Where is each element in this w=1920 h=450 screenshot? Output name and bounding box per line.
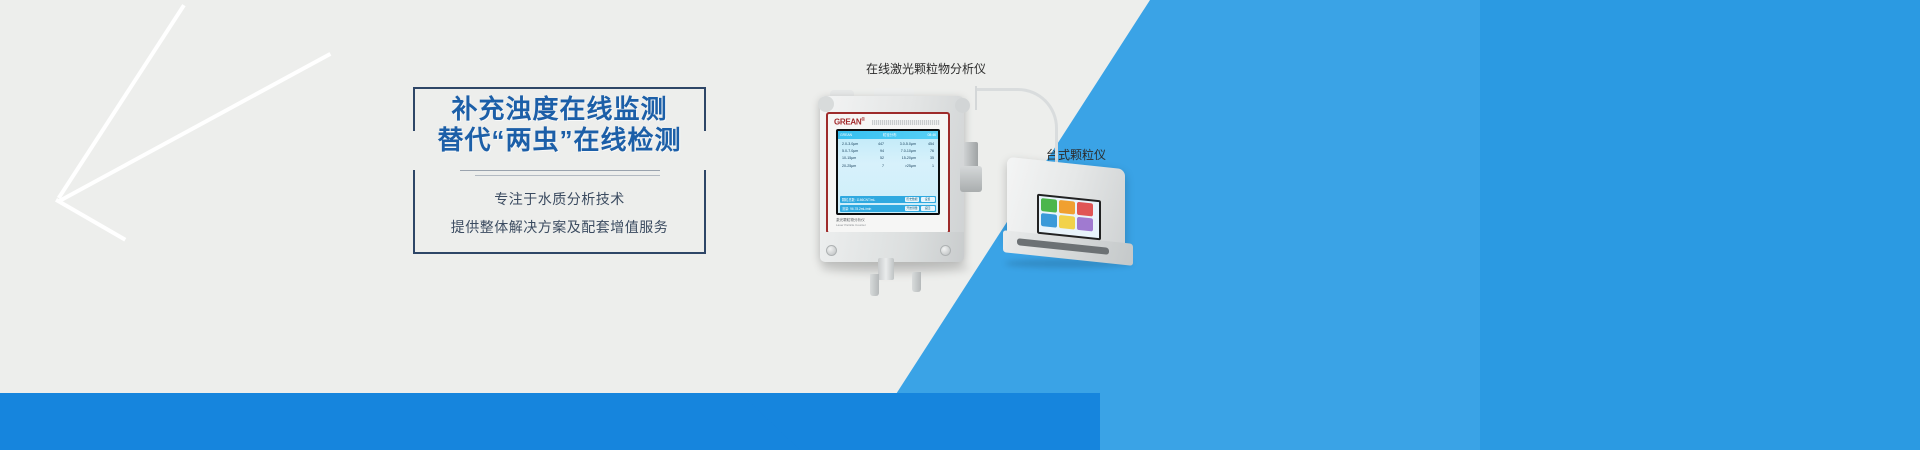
cell-range-2: 3.0-5.0μm: [884, 141, 916, 148]
bench-analyzer-image: [1003, 163, 1138, 275]
cell-value-2: 35: [916, 155, 934, 162]
analyzer-screw-right: [940, 245, 951, 256]
hero-banner: 补充浊度在线监测 替代“两虫”在线检测 专注于水质分析技术 提供整体解决方案及配…: [0, 0, 1920, 450]
table-row: 20-25μm 7 >25μm 1: [840, 163, 936, 170]
table-row: 10-15μm 52 15-20μm 35: [840, 155, 936, 162]
brand-text: GREAN: [834, 118, 861, 127]
screen-data-table: 2.0-3.0μm 447 3.0-5.0μm 454 5.0-7.0μm 94…: [838, 139, 938, 195]
status-total-count: 颗粒总数: 1166CNT/mL: [840, 197, 905, 202]
screen-brand: GREAN: [840, 131, 852, 139]
cell-range-2: 15-20μm: [884, 155, 916, 162]
bench-tile-blue[interactable]: [1041, 213, 1057, 228]
analyzer-knob-left: [818, 96, 834, 112]
brand-registered-icon: ®: [861, 117, 864, 123]
screen-clock: 08:46: [928, 131, 937, 139]
screen-titlebar: GREAN 粒径分布 08:46: [838, 131, 938, 139]
cell-value-2: 454: [916, 141, 934, 148]
headline-line-2: 替代“两虫”在线检测: [413, 125, 706, 156]
cell-range-1: 10-15μm: [840, 155, 868, 162]
cell-range-1: 2.0-3.0μm: [840, 141, 868, 148]
status-flow-rate: 流量: 96.78.2mL/min: [840, 206, 905, 211]
divider-upper: [460, 170, 660, 171]
screen-status-row-2: 流量: 96.78.2mL/min 开始测量 返回: [840, 205, 936, 212]
analyzer-bracket-left: [870, 274, 879, 296]
headline-line-1: 补充浊度在线监测: [413, 94, 706, 125]
table-row: 5.0-7.0μm 94 7.0-10μm 76: [840, 148, 936, 155]
bench-tile-red[interactable]: [1077, 202, 1093, 217]
bench-screen: [1039, 196, 1099, 238]
cell-range-2: 7.0-10μm: [884, 148, 916, 155]
analyzer-cable-gland: [878, 258, 894, 280]
cell-range-2: >25μm: [884, 163, 916, 170]
screen-button-back[interactable]: 返回: [921, 206, 935, 211]
cell-range-1: 20-25μm: [840, 163, 868, 170]
screen-title: 粒径分布: [883, 131, 897, 139]
subtitle-line-2: 提供整体解决方案及配套增值服务: [413, 213, 706, 241]
label-online-analyzer: 在线激光颗粒物分析仪: [866, 60, 986, 77]
screen-button-start[interactable]: 开始测量: [905, 206, 919, 211]
panel-footer: 激光颗粒物分析仪 Laser Particle Counter: [836, 218, 866, 228]
analyzer-bracket-right: [912, 272, 921, 292]
screen-button-settings[interactable]: 设置: [921, 197, 935, 202]
online-analyzer-image: GREAN® GREAN 粒径分布 08:46 2.0-3.0μm 447 3.…: [812, 82, 972, 272]
bench-tile-yellow[interactable]: [1059, 215, 1075, 230]
bench-tile-orange[interactable]: [1059, 200, 1075, 215]
bench-tile-purple[interactable]: [1077, 217, 1093, 232]
screen-status-row-1: 颗粒总数: 1166CNT/mL 历史数据 设置: [840, 196, 936, 203]
cell-value-1: 447: [868, 141, 884, 148]
page-title: 补充浊度在线监测 替代“两虫”在线检测: [413, 94, 706, 156]
bench-tile-green[interactable]: [1041, 198, 1057, 213]
headline-card: 补充浊度在线监测 替代“两虫”在线检测 专注于水质分析技术 提供整体解决方案及配…: [413, 87, 706, 254]
cell-value-2: 76: [916, 148, 934, 155]
cell-value-1: 7: [868, 163, 884, 170]
bench-display-bezel: [1037, 194, 1101, 241]
screen-button-history[interactable]: 历史数据: [905, 197, 919, 202]
brand-logo: GREAN®: [834, 117, 865, 127]
cell-value-2: 1: [916, 163, 934, 170]
analyzer-screw-left: [826, 245, 837, 256]
frame-top: [413, 87, 706, 89]
subtitle-block: 专注于水质分析技术 提供整体解决方案及配套增值服务: [413, 185, 706, 241]
analyzer-display-bezel: GREAN 粒径分布 08:46 2.0-3.0μm 447 3.0-5.0μm…: [836, 129, 940, 215]
panel-grille: [872, 120, 940, 125]
panel-footer-en: Laser Particle Counter: [836, 223, 866, 228]
subtitle-line-1: 专注于水质分析技术: [413, 185, 706, 213]
cell-range-1: 5.0-7.0μm: [840, 148, 868, 155]
analyzer-screen: GREAN 粒径分布 08:46 2.0-3.0μm 447 3.0-5.0μm…: [838, 131, 938, 213]
frame-bottom: [413, 252, 706, 254]
analyzer-front-panel: GREAN® GREAN 粒径分布 08:46 2.0-3.0μm 447 3.…: [826, 112, 950, 234]
divider-lower: [475, 175, 660, 176]
cell-value-1: 52: [868, 155, 884, 162]
connection-tubing-inlet: [975, 86, 977, 110]
table-row: 2.0-3.0μm 447 3.0-5.0μm 454: [840, 141, 936, 148]
cell-value-1: 94: [868, 148, 884, 155]
analyzer-knob-right: [955, 98, 970, 113]
